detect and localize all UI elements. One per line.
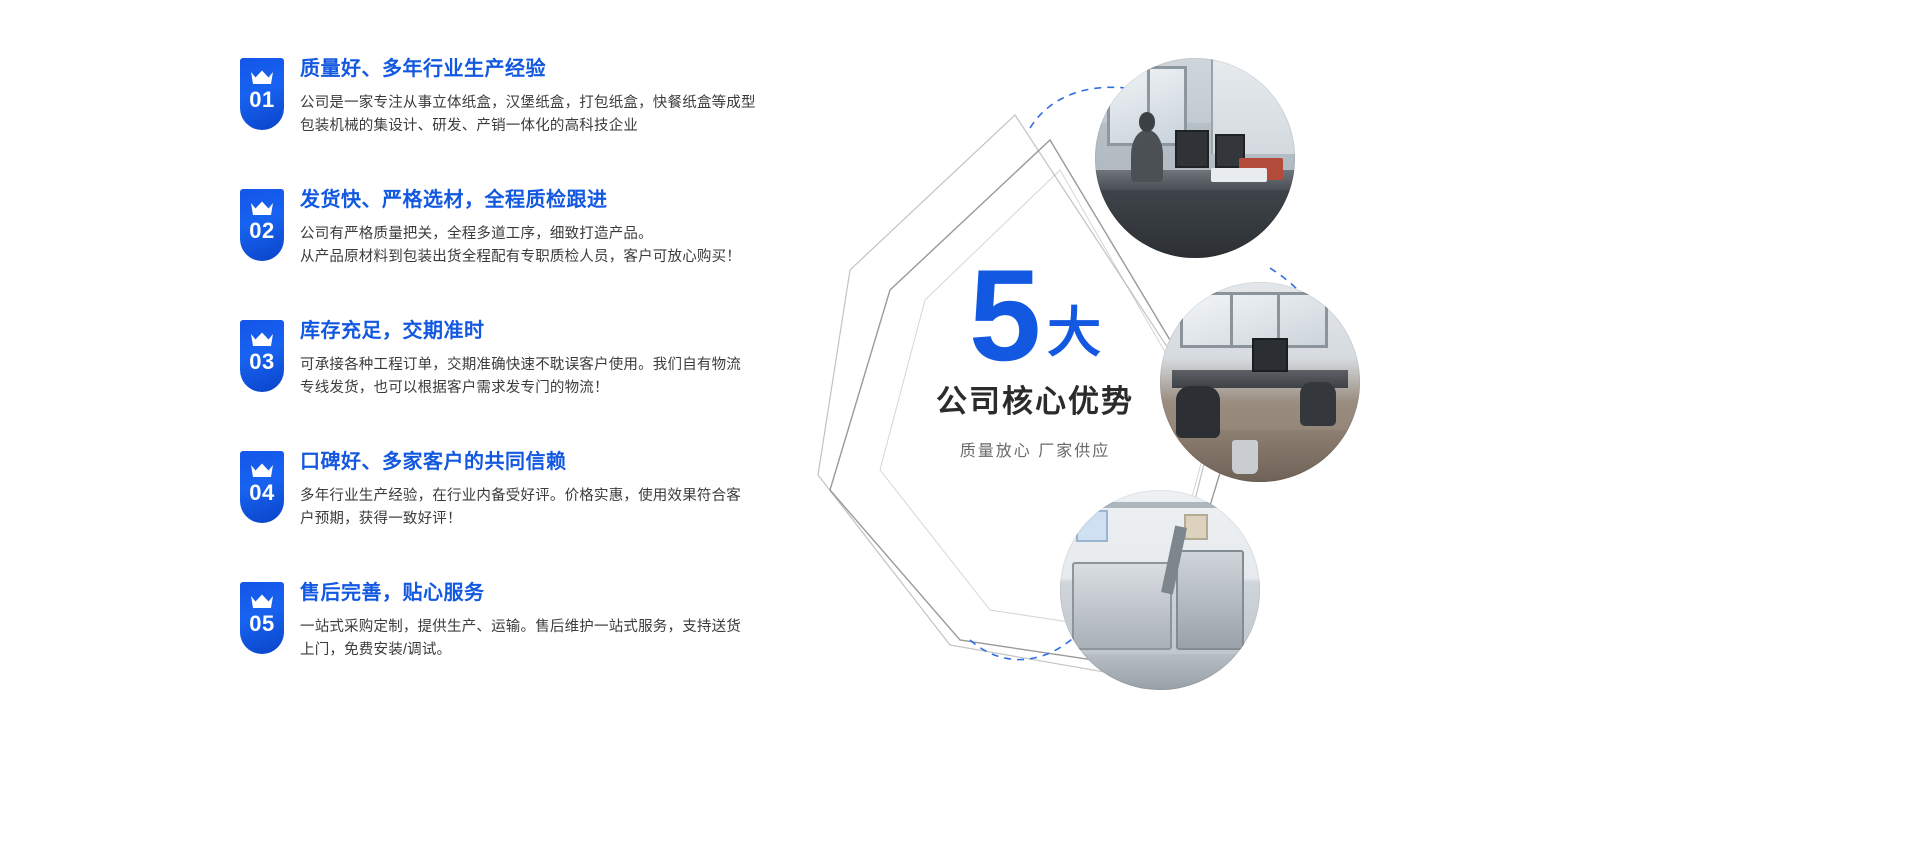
advantage-number: 05 xyxy=(240,613,284,635)
photo-content xyxy=(1060,490,1260,690)
advantage-badge: 02 xyxy=(240,189,284,261)
advantage-number: 04 xyxy=(240,482,284,504)
crown-icon xyxy=(250,331,274,347)
page-root: 01 质量好、多年行业生产经验 公司是一家专注从事立体纸盒，汉堡纸盒，打包纸盒，… xyxy=(0,0,1920,847)
advantage-desc-line: 从产品原材料到包装出货全程配有专职质检人员，客户可放心购买！ xyxy=(300,246,770,269)
hub-number: 5 xyxy=(969,260,1039,372)
core-advantage-hub: 5 大 公司核心优势 质量放心 厂家供应 xyxy=(760,20,1920,830)
monitor-shape xyxy=(1252,338,1288,372)
machine-shape xyxy=(1176,550,1244,650)
photo-scene xyxy=(1060,490,1260,690)
advantage-desc-line: 公司是一家专注从事立体纸盒，汉堡纸盒，打包纸盒，快餐纸盒等成型 xyxy=(300,92,770,115)
office-desks-photo xyxy=(1160,282,1360,482)
photo-scene xyxy=(1095,58,1295,258)
advantage-desc-line: 包装机械的集设计、研发、产销一体化的高科技企业 xyxy=(300,115,770,138)
advantage-badge: 04 xyxy=(240,451,284,523)
floor-shape xyxy=(1060,654,1260,690)
rack-shape xyxy=(1068,502,1252,508)
advantage-number: 02 xyxy=(240,220,284,242)
crown-icon xyxy=(250,200,274,216)
bin-shape xyxy=(1232,440,1258,474)
office-workstation-photo xyxy=(1095,58,1295,258)
advantage-description: 多年行业生产经验，在行业内备受好评。价格实惠，使用效果符合客 户预期，获得一致好… xyxy=(300,485,770,532)
advantage-badge: 05 xyxy=(240,582,284,654)
photo-scene xyxy=(1160,282,1360,482)
machine-shape xyxy=(1072,562,1172,650)
advantage-desc-line: 可承接各种工程订单，交期准确快速不耽误客户使用。我们自有物流 xyxy=(300,354,770,377)
chair-shape xyxy=(1300,382,1336,426)
papers-shape xyxy=(1211,168,1267,182)
advantage-desc-line: 一站式采购定制，提供生产、运输。售后维护一站式服务，支持送货 xyxy=(300,616,770,639)
desk-front-shape xyxy=(1095,190,1295,258)
advantage-description: 一站式采购定制，提供生产、运输。售后维护一站式服务，支持送货 上门，免费安装/调… xyxy=(300,616,770,663)
advantage-description: 公司有严格质量把关，全程多道工序，细致打造产品。 从产品原材料到包装出货全程配有… xyxy=(300,223,770,270)
advantage-desc-line: 户预期，获得一致好评！ xyxy=(300,508,770,531)
crown-icon xyxy=(250,593,274,609)
box-stack-shape xyxy=(1184,514,1208,540)
advantage-description: 公司是一家专注从事立体纸盒，汉堡纸盒，打包纸盒，快餐纸盒等成型 包装机械的集设计… xyxy=(300,92,770,139)
crown-icon xyxy=(250,462,274,478)
advantage-description: 可承接各种工程订单，交期准确快速不耽误客户使用。我们自有物流 专线发货，也可以根… xyxy=(300,354,770,401)
advantage-desc-line: 公司有严格质量把关，全程多道工序，细致打造产品。 xyxy=(300,223,770,246)
workshop-machine-photo xyxy=(1060,490,1260,690)
advantage-desc-line: 多年行业生产经验，在行业内备受好评。价格实惠，使用效果符合客 xyxy=(300,485,770,508)
advantage-badge: 01 xyxy=(240,58,284,130)
hub-number-suffix: 大 xyxy=(1047,306,1101,360)
advantage-badge: 03 xyxy=(240,320,284,392)
chair-shape xyxy=(1176,386,1220,438)
advantage-desc-line: 上门，免费安装/调试。 xyxy=(300,639,770,662)
photo-content xyxy=(1095,58,1295,258)
crown-icon xyxy=(250,69,274,85)
advantage-desc-line: 专线发货，也可以根据客户需求发专门的物流！ xyxy=(300,377,770,400)
box-stack-shape xyxy=(1076,510,1108,542)
advantage-number: 03 xyxy=(240,351,284,373)
advantage-number: 01 xyxy=(240,89,284,111)
monitor-shape xyxy=(1175,130,1209,168)
person-shape xyxy=(1131,130,1163,182)
photo-content xyxy=(1160,282,1360,482)
